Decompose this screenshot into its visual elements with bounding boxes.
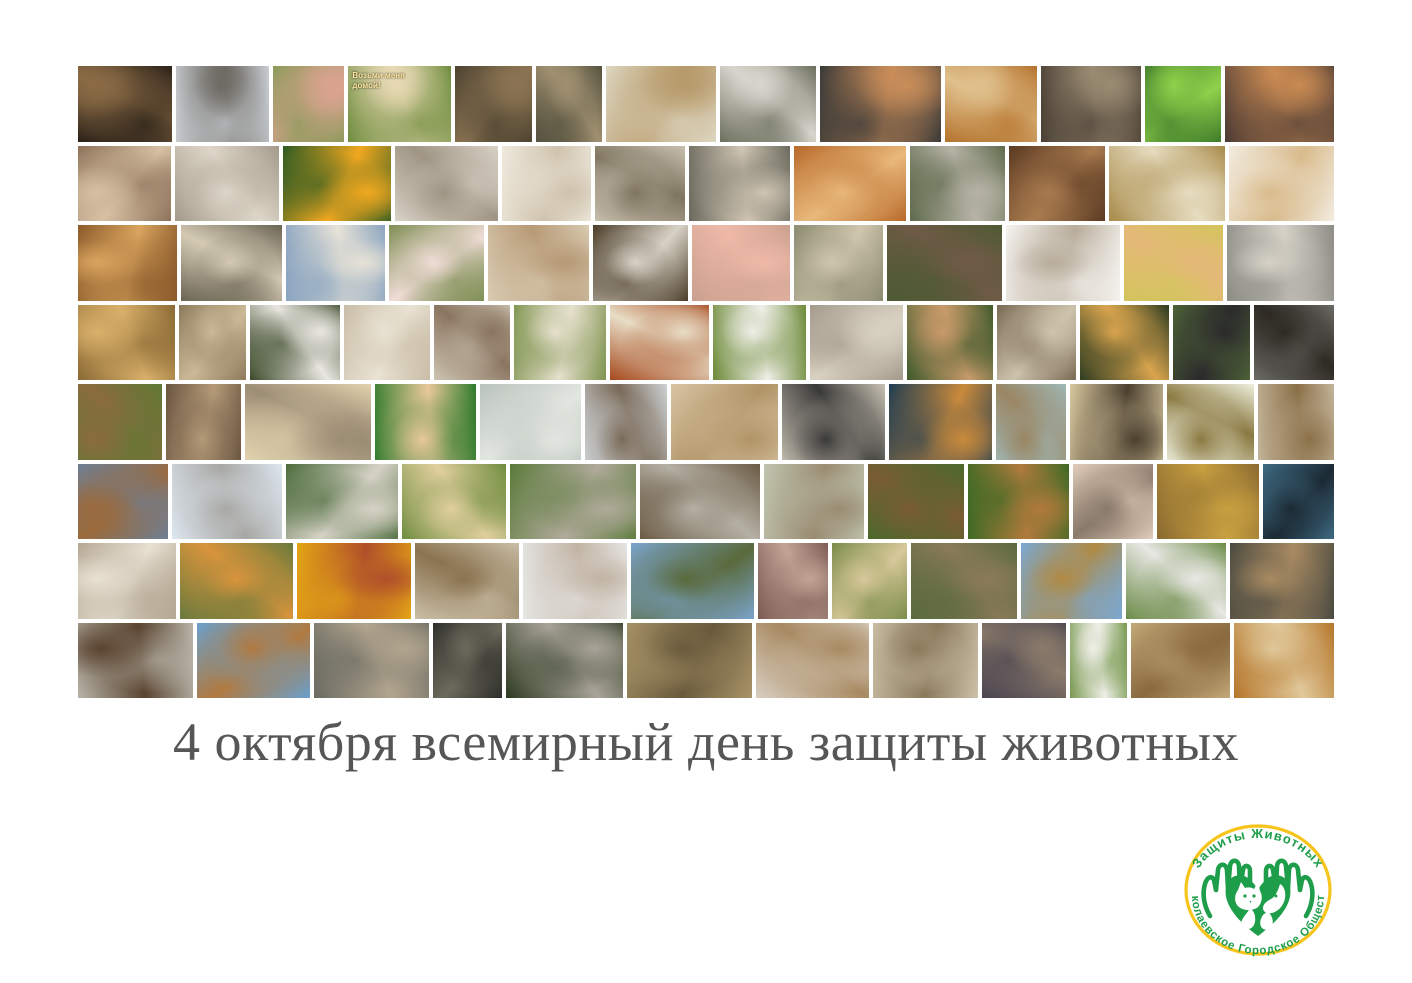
photo-image [415,543,519,619]
photo-image [523,543,627,619]
photo-image [166,384,242,460]
photo-image [175,146,279,222]
collage-photo-tile [1070,623,1127,699]
photo-image [78,66,172,142]
photo-image [606,66,717,142]
photo-image [434,305,511,381]
collage-photo-tile [395,146,497,222]
collage-photo-tile [1234,623,1334,699]
collage-photo-tile [502,146,591,222]
photo-image [1109,146,1225,222]
collage-photo-tile [175,146,279,222]
photo-image [968,464,1070,540]
collage-photo-tile [631,543,754,619]
photo-image [982,623,1066,699]
photo-image [585,384,667,460]
photo-image [176,66,270,142]
collage-photo-tile [455,66,532,142]
collage-photo-tile [514,305,605,381]
photo-image [910,146,1005,222]
collage-photo-tile [78,464,168,540]
photo-image [1070,384,1163,460]
collage-row: Возьми меня домой! [78,66,1334,142]
collage-photo-tile [1041,66,1140,142]
collage-photo-tile [283,146,391,222]
collage-photo-tile [344,305,430,381]
photo-image [1254,305,1334,381]
collage-photo-tile [610,305,709,381]
photo-image [536,66,602,142]
collage-photo-tile [595,146,686,222]
photo-image [78,305,175,381]
collage-photo-tile [78,543,176,619]
photo-image [820,66,942,142]
photo-image [758,543,827,619]
photo-image [1124,225,1223,301]
collage-photo-tile [996,384,1066,460]
photo-image [314,623,429,699]
photo-image [375,384,476,460]
photo-image [810,305,903,381]
collage-photo-tile [506,623,623,699]
photo-image [78,146,171,222]
collage-photo-tile [640,464,760,540]
photo-image [78,464,168,540]
photo-image [640,464,760,540]
photo-image [433,623,501,699]
collage-photo-tile [764,464,864,540]
photo-image [832,543,908,619]
collage-photo-tile [78,623,193,699]
collage-photo-tile [692,225,791,301]
collage-photo-tile [1157,464,1259,540]
photo-image [627,623,752,699]
collage-photo-tile [197,623,310,699]
photo-image [1157,464,1259,540]
collage-photo-tile [810,305,903,381]
collage-photo-tile [1070,384,1163,460]
collage-photo-tile [1124,225,1223,301]
photo-image [172,464,282,540]
collage-photo-tile [375,384,476,460]
photo-image [245,384,371,460]
photo-image [1234,623,1334,699]
photo-image [179,305,246,381]
collage-photo-tile [907,305,993,381]
photo-image [283,146,391,222]
photo-image [692,225,791,301]
collage-photo-tile [606,66,717,142]
collage-photo-tile [720,66,816,142]
photo-image [997,305,1075,381]
photo-image [1227,225,1334,301]
photo-image [480,384,581,460]
collage-photo-tile [78,305,175,381]
collage-row [78,384,1334,460]
photo-image [1173,305,1250,381]
collage-photo-tile [1006,225,1119,301]
collage-photo-tile [181,225,282,301]
collage-photo-tile: Возьми меня домой! [348,66,451,142]
photo-image [297,543,411,619]
collage-photo-tile [179,305,246,381]
photo-image [1131,623,1231,699]
collage-photo-tile [910,146,1005,222]
collage-photo-tile [180,543,292,619]
poster-canvas: Возьми меня домой! 4 октября всемирный д… [0,0,1412,983]
photo-image [286,225,385,301]
collage-photo-tile [832,543,908,619]
collage-photo-tile [402,464,506,540]
collage-photo-tile [1263,464,1334,540]
collage-photo-tile [286,225,385,301]
photo-image [181,225,282,301]
photo-image [1126,543,1226,619]
collage-photo-tile [1258,384,1334,460]
collage-photo-tile [172,464,282,540]
photo-image [873,623,978,699]
collage-photo-tile [78,384,162,460]
photo-image [502,146,591,222]
collage-photo-tile [1225,66,1334,142]
collage-photo-tile [1109,146,1225,222]
collage-row [78,305,1334,381]
photo-image [1009,146,1106,222]
collage-photo-tile [713,305,806,381]
collage-photo-tile [982,623,1066,699]
photo-image [389,225,484,301]
photo-image [794,146,906,222]
photo-image [1145,66,1222,142]
photo-image [1006,225,1119,301]
photo-image [868,464,964,540]
collage-photo-tile [868,464,964,540]
collage-photo-tile [286,464,398,540]
animal-photo-collage: Возьми меня домой! [78,66,1334,698]
collage-photo-tile [1080,305,1170,381]
photo-image [713,305,806,381]
photo-image [506,623,623,699]
organization-logo[interactable]: Защиты Животных Николаевское Городское О… [1168,812,1348,968]
photo-image [455,66,532,142]
photo-image [1167,384,1254,460]
collage-row [78,543,1334,619]
tile-overlay-caption: Возьми меня домой! [352,71,414,91]
collage-photo-tile [245,384,371,460]
logo-dog-face-details [1275,895,1278,898]
collage-photo-tile [794,146,906,222]
photo-image [945,66,1037,142]
photo-image [514,305,605,381]
collage-photo-tile [1131,623,1231,699]
photo-image [593,225,688,301]
collage-photo-tile [523,543,627,619]
collage-row [78,623,1334,699]
collage-row [78,464,1334,540]
collage-photo-tile [873,623,978,699]
collage-photo-tile [510,464,636,540]
logo-text-top: Защиты Животных [1189,826,1328,871]
collage-photo-tile [166,384,242,460]
photo-image [887,225,1002,301]
collage-photo-tile [480,384,581,460]
photo-image [273,66,344,142]
collage-photo-tile [78,146,171,222]
collage-photo-tile [78,66,172,142]
photo-image [1258,384,1334,460]
page-title: 4 октября всемирный день защиты животных [0,706,1412,778]
collage-photo-tile [689,146,790,222]
photo-image [1263,464,1334,540]
photo-image [907,305,993,381]
photo-image [286,464,398,540]
collage-photo-tile [1145,66,1222,142]
collage-photo-tile [887,225,1002,301]
collage-photo-tile [434,305,511,381]
photo-image [756,623,869,699]
photo-image [631,543,754,619]
collage-photo-tile [756,623,869,699]
collage-photo-tile [1021,543,1121,619]
photo-image [1229,146,1333,222]
photo-image [78,225,177,301]
photo-image [1070,623,1127,699]
collage-photo-tile [945,66,1037,142]
photo-image [488,225,589,301]
photo-image [1041,66,1140,142]
photo-image [764,464,864,540]
photo-image [595,146,686,222]
collage-photo-tile [1009,146,1106,222]
collage-photo-tile [593,225,688,301]
photo-image [250,305,340,381]
photo-image [996,384,1066,460]
collage-photo-tile [314,623,429,699]
collage-photo-tile [415,543,519,619]
photo-image [78,623,193,699]
photo-image [395,146,497,222]
photo-image [689,146,790,222]
collage-photo-tile [1254,305,1334,381]
collage-photo-tile [820,66,942,142]
photo-image [1021,543,1121,619]
photo-image [1080,305,1170,381]
photo-image [402,464,506,540]
photo-image [911,543,1017,619]
collage-photo-tile [627,623,752,699]
collage-photo-tile [911,543,1017,619]
collage-photo-tile [536,66,602,142]
photo-image [610,305,709,381]
collage-photo-tile [1230,543,1334,619]
photo-image [1073,464,1152,540]
photo-image [510,464,636,540]
photo-image [180,543,292,619]
photo-image [782,384,885,460]
collage-photo-tile [273,66,344,142]
photo-image [1225,66,1334,142]
collage-photo-tile [1126,543,1226,619]
collage-photo-tile [250,305,340,381]
collage-photo-tile [1073,464,1152,540]
collage-photo-tile [488,225,589,301]
photo-image [720,66,816,142]
photo-image [794,225,883,301]
collage-photo-tile [782,384,885,460]
photo-image [671,384,778,460]
collage-photo-tile [1173,305,1250,381]
photo-image [78,384,162,460]
collage-photo-tile [389,225,484,301]
collage-photo-tile [671,384,778,460]
collage-photo-tile [758,543,827,619]
collage-photo-tile [176,66,270,142]
collage-photo-tile [433,623,501,699]
collage-photo-tile [585,384,667,460]
collage-row [78,225,1334,301]
collage-photo-tile [968,464,1070,540]
collage-photo-tile [889,384,992,460]
photo-image [1230,543,1334,619]
collage-photo-tile [78,225,177,301]
photo-image [197,623,310,699]
collage-row [78,146,1334,222]
collage-photo-tile [1229,146,1333,222]
photo-image [344,305,430,381]
photo-image [78,543,176,619]
collage-photo-tile [794,225,883,301]
collage-photo-tile [1167,384,1254,460]
collage-photo-tile [297,543,411,619]
collage-photo-tile [1227,225,1334,301]
photo-image [889,384,992,460]
collage-photo-tile [997,305,1075,381]
